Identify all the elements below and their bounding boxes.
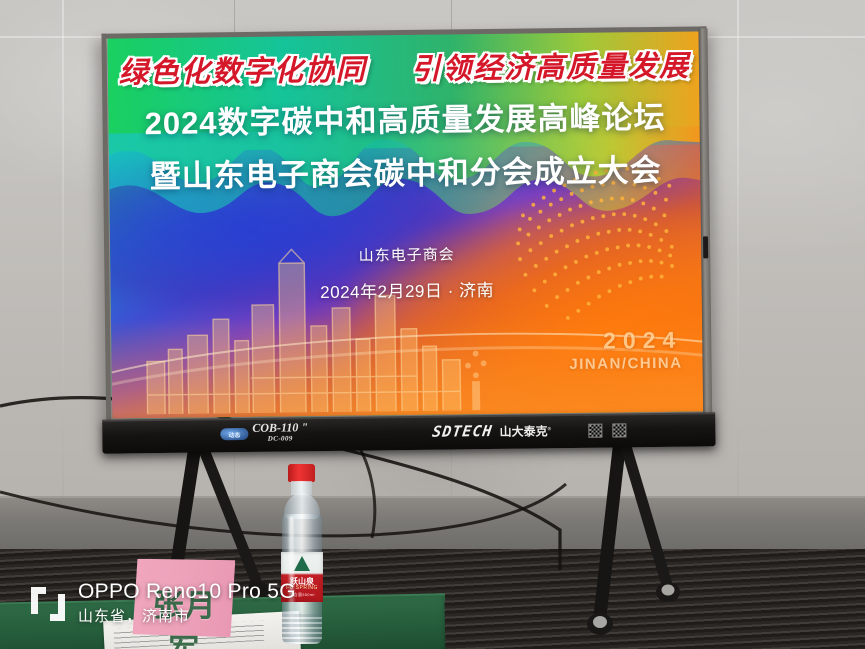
model-code: DC-009 [252,433,308,445]
vendor-logo-icon: 动态 [220,428,248,440]
display-model-badge: 动态 COB-110 " DC-009 [220,422,308,445]
display-bezel [101,26,711,423]
display-brand-badge: SDTECH 山大泰克® [432,421,551,440]
brand-chinese: 山大泰克® [499,422,551,440]
qr-sticker-icon [612,423,626,437]
watermark-text: OPPO Reno10 Pro 5G 山东省，济南市 [78,580,296,627]
brand-chinese-text: 山大泰克 [499,424,547,439]
vendor-logo-text: 动态 [228,430,240,439]
mountain-logo-icon [294,556,310,571]
watermark-device: OPPO Reno10 Pro 5G [78,580,296,604]
bottle-cap [288,464,315,482]
qr-sticker-icon [588,424,602,438]
model-name: COB-110 " DC-009 [252,422,308,445]
registered-mark: ® [548,427,552,432]
brand-latin: SDTECH [431,422,493,441]
watermark-location: 山东省，济南市 [78,607,296,627]
led-display[interactable]: 绿色化数字化协同 引领经济高质量发展 2024数字碳中和高质量发展高峰论坛 暨山… [101,26,711,451]
power-button[interactable] [703,236,708,258]
oppo-shutter-logo-icon [28,584,68,624]
camera-watermark: OPPO Reno10 Pro 5G 山东省，济南市 [28,580,296,627]
conference-room-photo: 绿色化数字化协同 引领经济高质量发展 2024数字碳中和高质量发展高峰论坛 暨山… [0,0,865,649]
